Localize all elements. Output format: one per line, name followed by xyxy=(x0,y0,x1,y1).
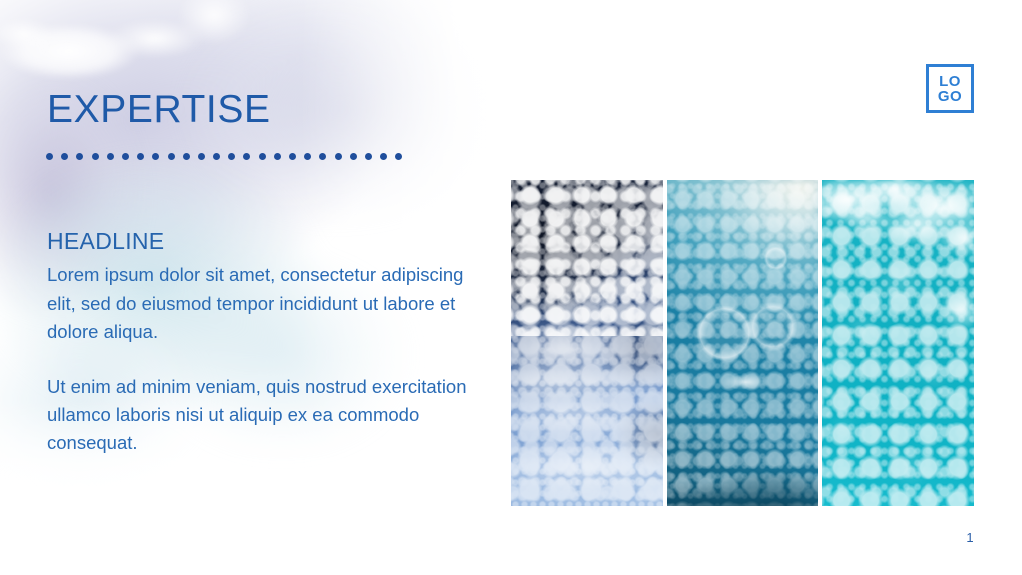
divider-dot xyxy=(380,153,387,160)
divider-dot xyxy=(198,153,205,160)
body-text-column: HEADLINE Lorem ipsum dolor sit amet, con… xyxy=(47,228,472,457)
gallery-panel-underwater-bubbles-teal xyxy=(667,180,819,506)
divider-dot xyxy=(365,153,372,160)
divider-dot xyxy=(259,153,266,160)
page-number: 1 xyxy=(958,530,982,545)
divider-dot xyxy=(46,153,53,160)
divider-dot xyxy=(213,153,220,160)
divider-dot xyxy=(243,153,250,160)
divider-dot xyxy=(76,153,83,160)
gallery-panel-turquoise-foam xyxy=(822,180,974,506)
divider-dot xyxy=(274,153,281,160)
divider-dot xyxy=(122,153,129,160)
divider-dot xyxy=(137,153,144,160)
divider-dot xyxy=(350,153,357,160)
divider-dot xyxy=(228,153,235,160)
dotted-divider xyxy=(46,153,402,160)
divider-dot xyxy=(152,153,159,160)
slide-canvas: EXPERTISE HEADLINE Lorem ipsum dolor sit… xyxy=(0,0,1022,575)
body-paragraph-2: Ut enim ad minim veniam, quis nostrud ex… xyxy=(47,373,472,457)
divider-dot xyxy=(335,153,342,160)
divider-dot xyxy=(183,153,190,160)
panel-1-top-droplets-layer xyxy=(511,180,663,336)
body-paragraph-1: Lorem ipsum dolor sit amet, consectetur … xyxy=(47,261,472,345)
logo-line-1: LO xyxy=(939,74,961,89)
divider-dot xyxy=(168,153,175,160)
divider-dot xyxy=(107,153,114,160)
divider-dot xyxy=(92,153,99,160)
divider-dot xyxy=(61,153,68,160)
gallery-panel-water-splash-navy xyxy=(511,180,663,506)
divider-dot xyxy=(289,153,296,160)
watercolor-cloud-wisps xyxy=(0,0,300,88)
logo-line-2: GO xyxy=(938,89,962,104)
logo-icon[interactable]: LO GO xyxy=(926,64,974,113)
content-headline: HEADLINE xyxy=(47,228,472,254)
slide-title: EXPERTISE xyxy=(47,88,271,132)
divider-dot xyxy=(395,153,402,160)
image-gallery xyxy=(511,180,974,506)
panel-3-top-foam-layer xyxy=(822,180,974,506)
divider-dot xyxy=(319,153,326,160)
panel-2-dark-bottom-layer xyxy=(667,180,819,506)
divider-dot xyxy=(304,153,311,160)
